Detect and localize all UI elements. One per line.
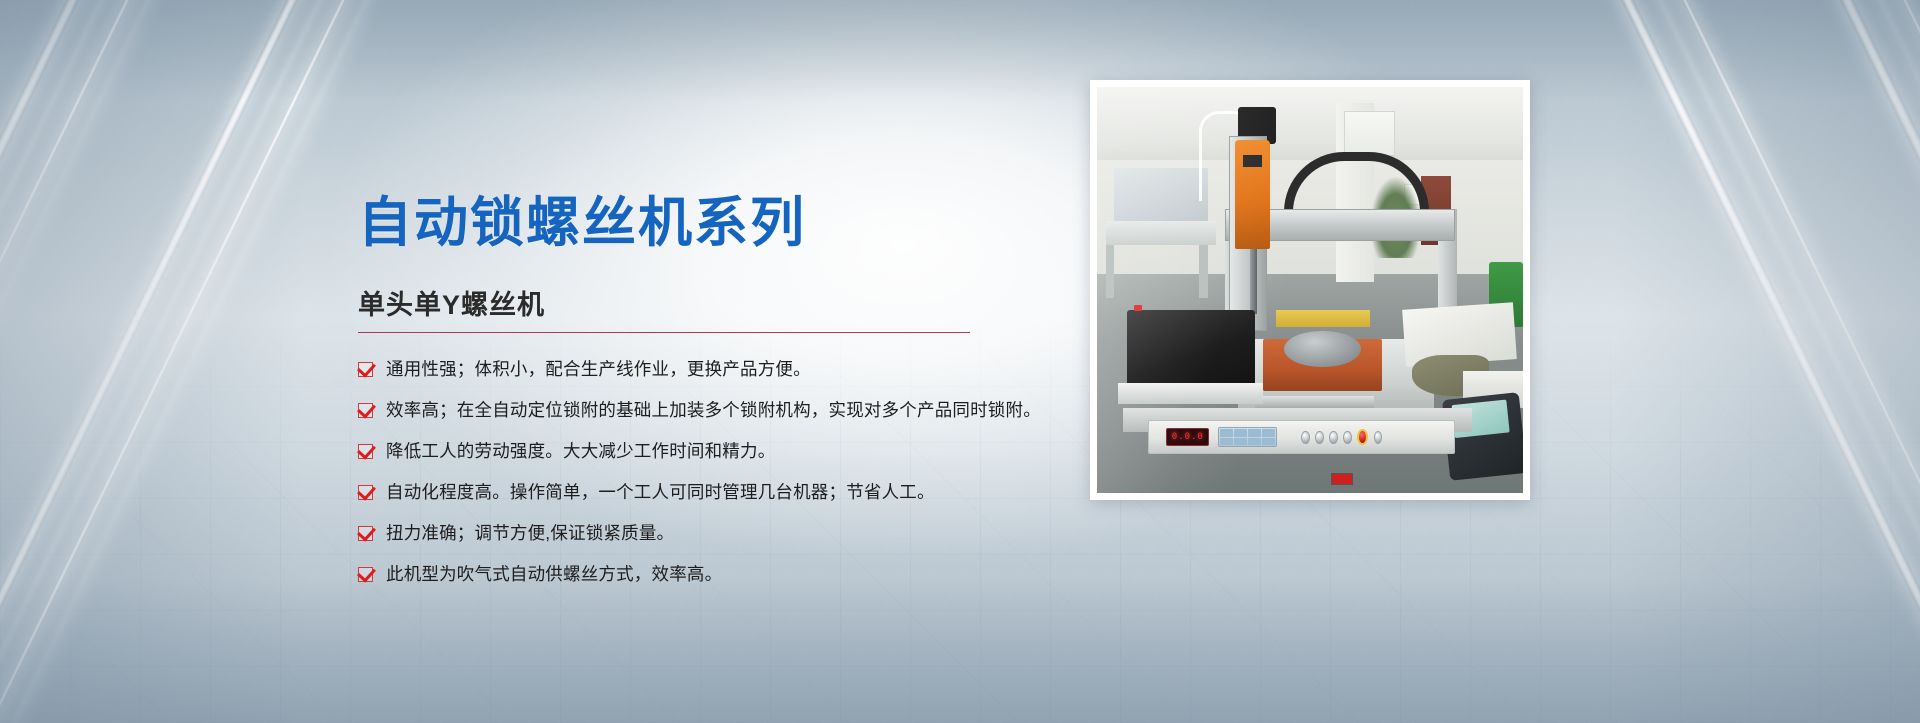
banner-content: 自动锁螺丝机系列 单头单Y螺丝机 通用性强；体积小，配合生产线作业，更换产品方便… (0, 0, 1920, 723)
check-icon (358, 444, 373, 459)
product-banner: 自动锁螺丝机系列 单头单Y螺丝机 通用性强；体积小，配合生产线作业，更换产品方便… (0, 0, 1920, 723)
emergency-stop-button (1357, 429, 1368, 445)
check-icon (358, 362, 373, 377)
photo-electric-screwdriver (1235, 140, 1269, 250)
page-title: 自动锁螺丝机系列 (358, 196, 806, 250)
keypad (1218, 427, 1278, 447)
list-item: 此机型为吹气式自动供螺丝方式，效率高。 (358, 563, 1358, 587)
photo-control-panel: 0.0.0 (1148, 420, 1455, 455)
photo-ceiling (1097, 87, 1523, 168)
panel-button-group (1301, 429, 1382, 445)
photo-screw-feeder (1127, 310, 1255, 391)
feature-text: 自动化程度高。操作简单，一个工人可同时管理几台机器；节省人工。 (386, 481, 935, 503)
product-photo-scene: 0.0.0 (1097, 87, 1523, 493)
feature-text: 扭力准确；调节方便,保证锁紧质量。 (386, 522, 674, 544)
check-icon (358, 526, 373, 541)
list-item: 扭力准确；调节方便,保证锁紧质量。 (358, 522, 1358, 546)
keypad-key (1248, 429, 1261, 437)
keypad-key (1234, 438, 1247, 446)
photo-yellow-pad (1276, 310, 1370, 326)
led-display: 0.0.0 (1166, 428, 1209, 446)
photo-feeder-plate (1118, 383, 1263, 403)
keypad-key (1234, 429, 1247, 437)
panel-button-home (1343, 431, 1351, 444)
panel-button-test (1329, 431, 1337, 444)
photo-wall-signs (1344, 111, 1395, 156)
feature-text: 效率高；在全自动定位锁附的基础上加装多个锁附机构，实现对多个产品同时锁附。 (386, 399, 1041, 421)
check-icon (358, 567, 373, 582)
panel-button-start (1374, 431, 1382, 444)
page-subtitle: 单头单Y螺丝机 (358, 283, 545, 322)
product-photo: 0.0.0 (1090, 80, 1530, 500)
photo-linear-rail (1255, 396, 1374, 408)
photo-screwdriver-bit (1250, 249, 1257, 314)
title-divider (358, 332, 970, 333)
keypad-key (1262, 438, 1275, 446)
keypad-key (1220, 438, 1233, 446)
photo-workpiece (1284, 331, 1361, 368)
photo-workbench (1106, 221, 1217, 245)
feature-text: 此机型为吹气式自动供螺丝方式，效率高。 (386, 563, 722, 585)
photo-workbench-leg (1106, 245, 1115, 298)
check-icon (358, 485, 373, 500)
check-icon (358, 403, 373, 418)
photo-power-switch (1331, 473, 1352, 485)
keypad-key (1248, 438, 1261, 446)
keypad-key (1262, 429, 1275, 437)
feature-text: 通用性强；体积小，配合生产线作业，更换产品方便。 (386, 358, 811, 380)
feature-text: 降低工人的劳动强度。大大减少工作时间和精力。 (386, 440, 775, 462)
panel-button-skip (1301, 431, 1309, 444)
keypad-key (1220, 429, 1233, 437)
panel-button-redo (1315, 431, 1323, 444)
photo-workbench-leg (1199, 245, 1208, 298)
